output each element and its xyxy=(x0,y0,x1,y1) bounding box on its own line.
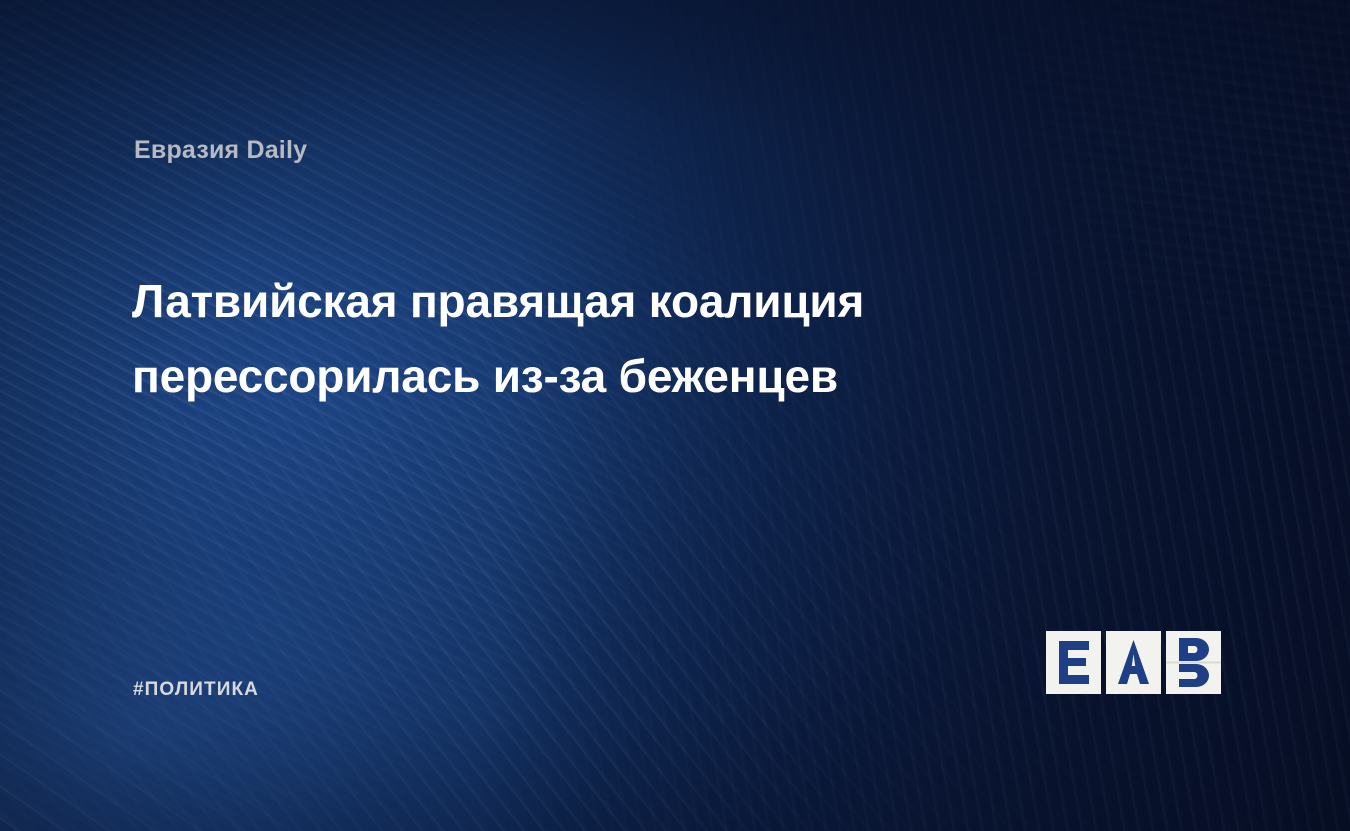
logo-tile-dd-icon xyxy=(1166,631,1221,694)
headline-line-1: Латвийская правящая коалиция xyxy=(132,264,1052,339)
news-card: Евразия Daily Латвийская правящая коалиц… xyxy=(0,0,1350,831)
eadaily-logo[interactable] xyxy=(1046,631,1221,694)
logo-tile-a-icon xyxy=(1106,631,1161,694)
logo-tile-e-icon xyxy=(1046,631,1101,694)
headline: Латвийская правящая коалиция перессорила… xyxy=(132,264,1052,413)
category-tag[interactable]: #ПОЛИТИКА xyxy=(133,679,259,701)
background-vignette xyxy=(0,0,1350,831)
headline-line-2: перессорилась из-за беженцев xyxy=(132,339,1052,414)
brand-name: Евразия Daily xyxy=(134,136,307,165)
